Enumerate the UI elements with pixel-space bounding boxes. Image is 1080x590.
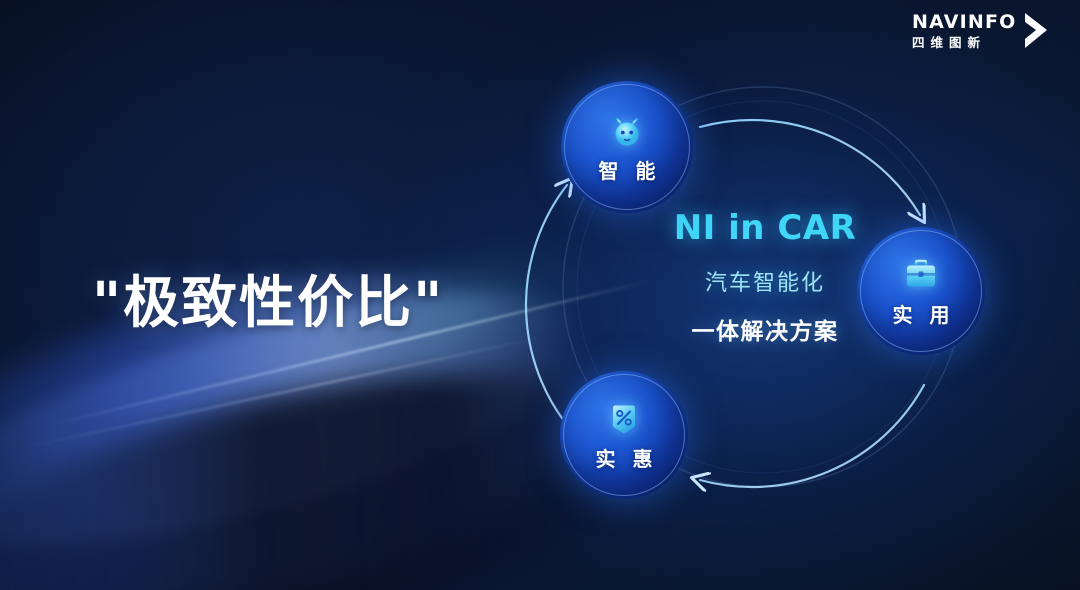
briefcase-icon <box>901 254 941 294</box>
node-smart-label: 智 能 <box>594 155 661 184</box>
arc-useful-to-value <box>700 385 924 487</box>
node-value-label: 实 惠 <box>591 443 658 472</box>
arc-smart-to-useful <box>700 120 920 215</box>
arc-value-to-smart <box>526 185 567 421</box>
discount-tag-icon <box>604 398 644 438</box>
center-subtitle-secondary: 一体解决方案 <box>630 312 900 346</box>
robot-icon <box>607 110 647 150</box>
logo-english-name: NAVINFO <box>912 13 1017 32</box>
brand-logo: NAVINFO 四维图新 <box>912 8 1062 54</box>
presentation-slide: NAVINFO 四维图新 "极致性价比" <box>0 0 1080 590</box>
node-useful[interactable]: 实 用 <box>857 227 985 355</box>
logo-row: NAVINFO 四维图新 <box>912 11 1051 51</box>
node-useful-label: 实 用 <box>888 299 955 328</box>
page-title: "极致性价比" <box>92 258 444 339</box>
chevron-arrow-icon <box>1021 11 1051 51</box>
background-light-streak-2 <box>16 336 545 450</box>
logo-chinese-name: 四维图新 <box>912 37 1017 50</box>
node-value[interactable]: 实 惠 <box>560 371 688 499</box>
logo-text-block: NAVINFO 四维图新 <box>912 13 1017 50</box>
cycle-diagram: NI in CAR 汽车智能化 一体解决方案 <box>520 55 1000 525</box>
node-smart[interactable]: 智 能 <box>561 81 693 213</box>
center-title: NI in CAR <box>630 210 900 247</box>
